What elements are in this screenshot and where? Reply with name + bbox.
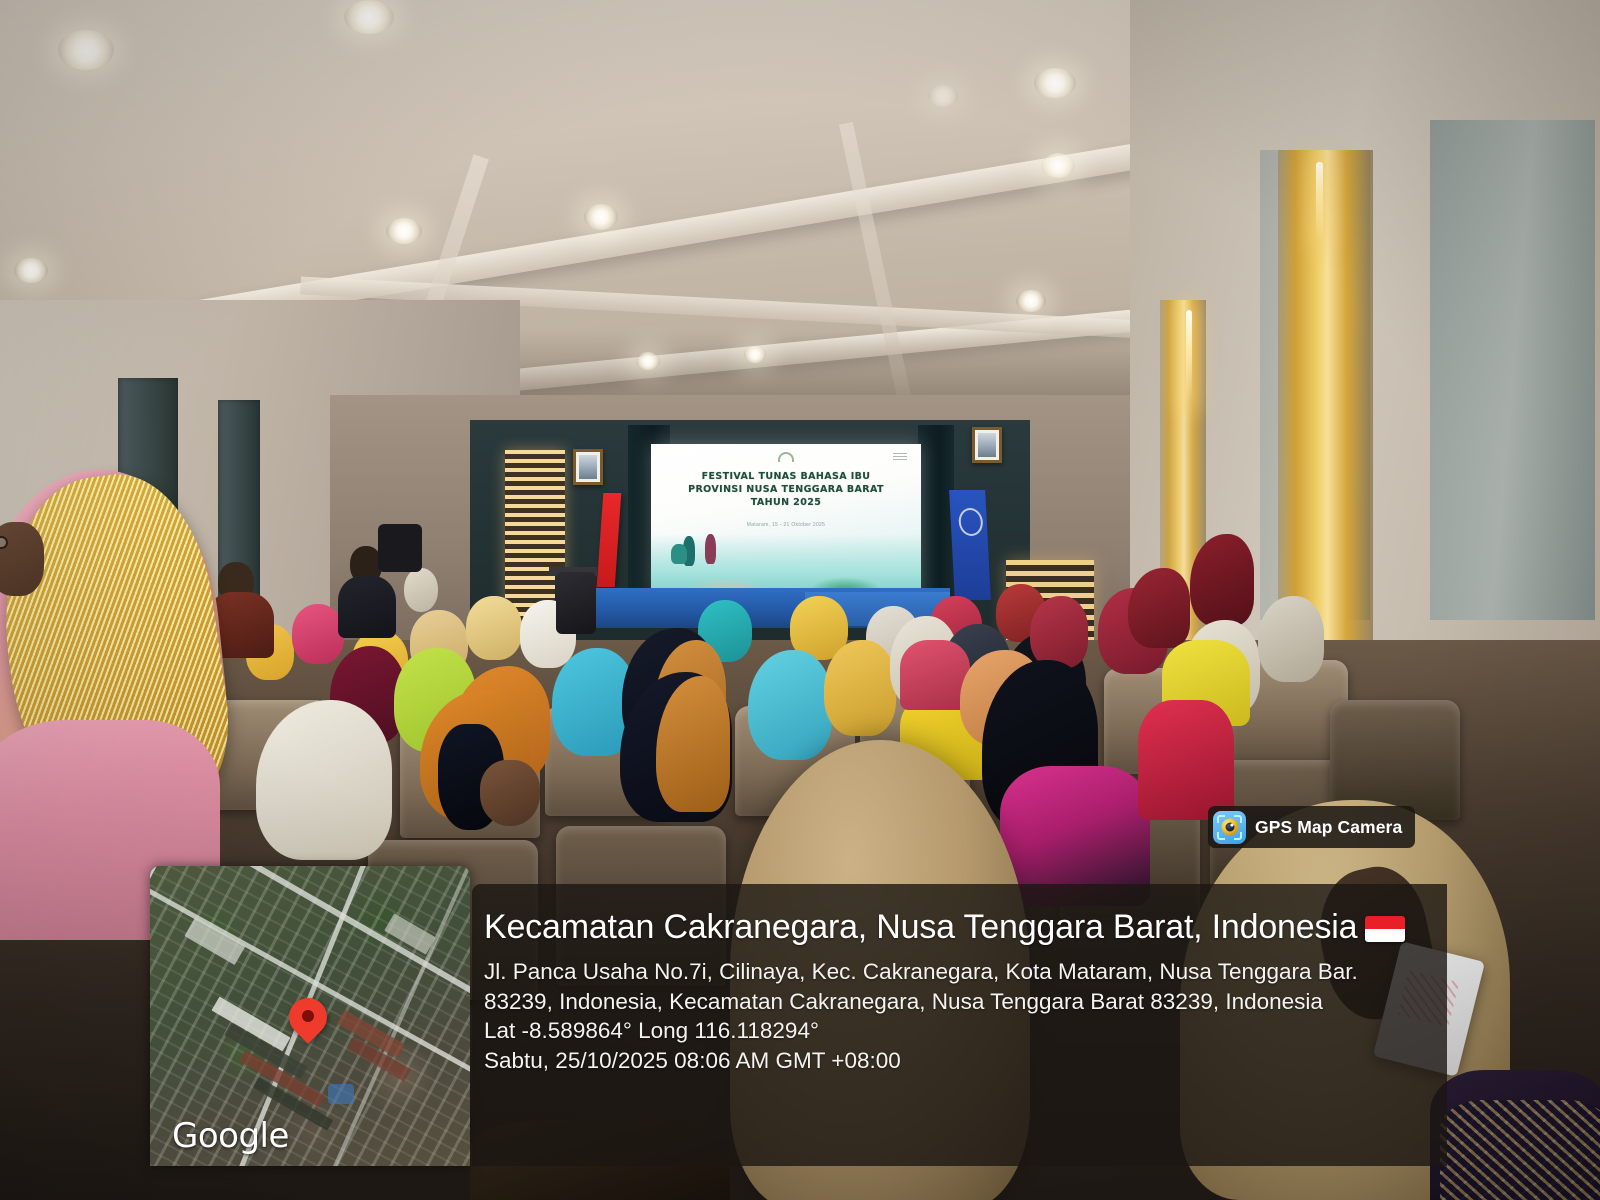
speaker-equipment	[378, 524, 422, 572]
organization-flag	[949, 490, 991, 600]
screen-title: FESTIVAL TUNAS BAHASA IBU PROVINSI NUSA …	[651, 470, 921, 509]
audience-body	[1138, 700, 1234, 820]
wall-light-strip	[1186, 310, 1192, 406]
google-watermark: Google	[172, 1116, 289, 1156]
screen-logo-icon	[778, 452, 794, 462]
screen-title-line-1: FESTIVAL TUNAS BAHASA IBU	[651, 470, 921, 483]
audience-face	[480, 760, 540, 826]
artwork-figure	[705, 534, 716, 564]
screen-title-line-2: PROVINSI NUSA TENGGARA BARAT	[651, 483, 921, 496]
location-title-row: Kecamatan Cakranegara, Nusa Tenggara Bar…	[484, 906, 1425, 949]
gps-map-camera-label: GPS Map Camera	[1255, 817, 1402, 838]
map-water	[328, 1084, 354, 1104]
projection-screen: FESTIVAL TUNAS BAHASA IBU PROVINSI NUSA …	[651, 444, 921, 596]
screen-logo-secondary-icon	[893, 453, 907, 460]
audience-body	[338, 576, 396, 638]
audience-hijab	[824, 640, 896, 736]
location-coordinates: Lat -8.589864° Long 116.118294°	[484, 1016, 1425, 1046]
ceiling-downlight	[14, 258, 48, 283]
location-details: Jl. Panca Usaha No.7i, Cilinaya, Kec. Ca…	[484, 957, 1425, 1075]
ceiling-downlight	[636, 352, 660, 370]
indonesia-flag-icon	[1365, 916, 1405, 942]
wall-portrait	[972, 427, 1002, 463]
ceiling-downlight	[1041, 153, 1075, 178]
audience-headdress	[466, 596, 522, 660]
wall-light-strip	[1316, 162, 1323, 240]
audience-sapuq-headdress	[1128, 568, 1190, 648]
ceiling-downlight	[744, 346, 766, 363]
location-title: Kecamatan Cakranegara, Nusa Tenggara Bar…	[484, 908, 1357, 946]
ceiling-downlight	[584, 204, 618, 230]
audience-hijab	[748, 650, 832, 760]
screenshot-root: FESTIVAL TUNAS BAHASA IBU PROVINSI NUSA …	[0, 0, 1600, 1200]
ceiling-downlight	[344, 0, 394, 34]
audience-headdress	[292, 604, 344, 664]
face	[0, 522, 44, 596]
audience-hijab	[404, 568, 438, 612]
camera-lens-icon	[1213, 811, 1246, 844]
location-timestamp: Sabtu, 25/10/2025 08:06 AM GMT +08:00	[484, 1046, 1425, 1076]
map-pin-icon	[289, 998, 327, 1036]
location-address: Jl. Panca Usaha No.7i, Cilinaya, Kec. Ca…	[484, 957, 1425, 1016]
speaker-equipment	[556, 572, 596, 634]
ceiling-downlight	[1034, 68, 1076, 98]
map-thumbnail[interactable]: Google	[150, 866, 470, 1166]
foreground-person-left	[0, 470, 250, 900]
gps-map-camera-watermark: GPS Map Camera	[1208, 806, 1415, 848]
screen-title-line-3: TAHUN 2025	[651, 496, 921, 509]
foreground-pattern	[1440, 1100, 1600, 1200]
ceiling-downlight	[58, 30, 114, 70]
wall-portrait	[573, 449, 603, 485]
ceiling-downlight	[386, 218, 422, 244]
audience-hijab	[1258, 596, 1324, 682]
wall-panel	[1430, 120, 1595, 620]
location-info-panel: Kecamatan Cakranegara, Nusa Tenggara Bar…	[472, 884, 1447, 1166]
ceiling-downlight	[1016, 290, 1046, 312]
ceiling-vent	[928, 85, 958, 107]
screen-artwork	[651, 534, 921, 596]
screen-subtitle: Mataram, 15 - 21 Oktober 2025	[651, 522, 921, 528]
audience-headdress	[1030, 596, 1088, 668]
artwork-figure	[671, 544, 687, 564]
